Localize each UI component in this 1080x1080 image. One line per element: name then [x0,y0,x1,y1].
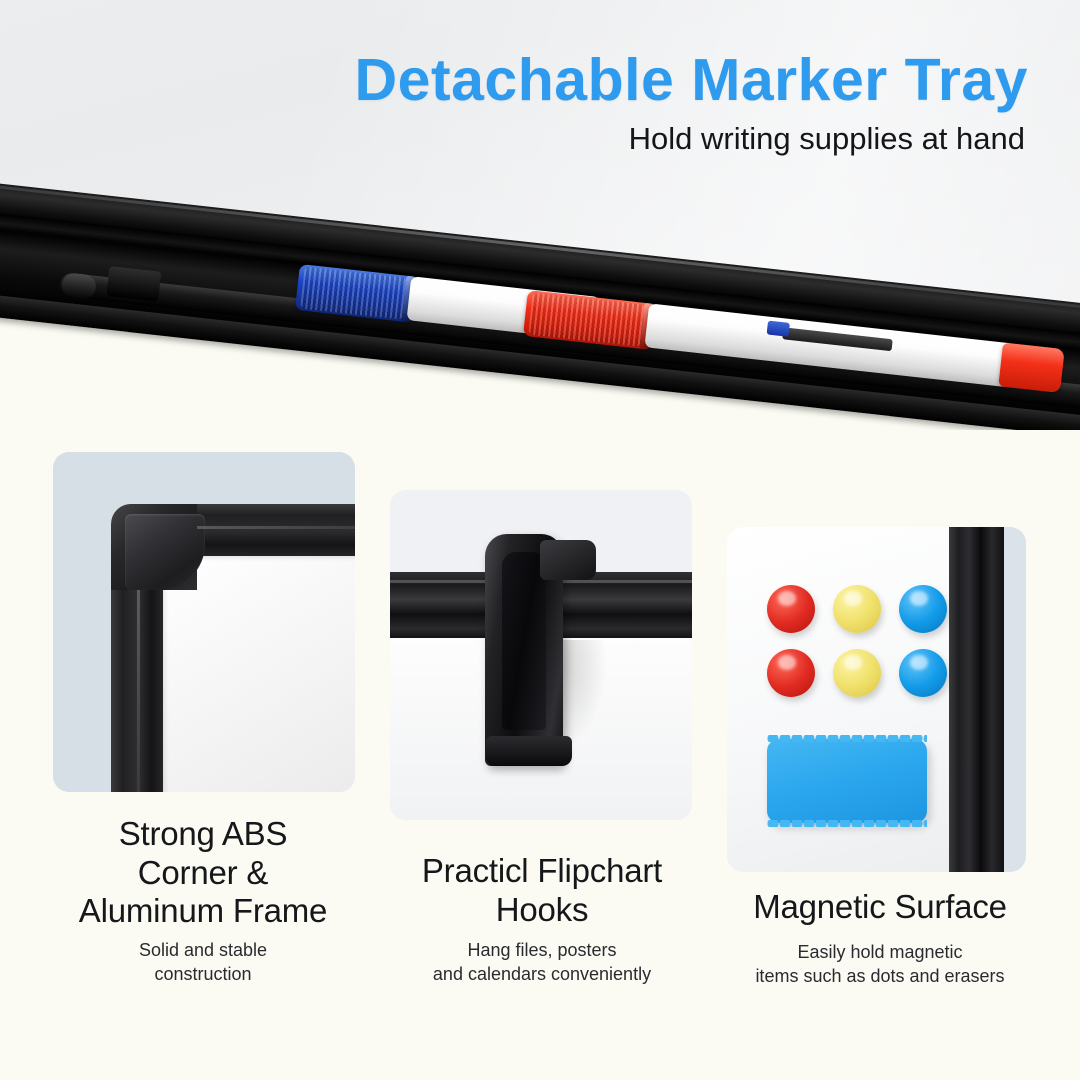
red-marker-end-cap [998,342,1064,393]
feature-title-flipchart-hooks: Practicl Flipchart Hooks [374,852,710,929]
flipchart-hook-foot [486,736,572,766]
magnetic-eraser [767,739,927,823]
marker-clip-nub [767,321,790,337]
feature-card-magnetic-surface [727,527,1026,872]
eraser-bottom-scallop [767,820,927,827]
page-subtitle: Hold writing supplies at hand [629,121,1025,157]
magnet-dot-yellow-2 [833,649,881,697]
flipchart-hook-channel [502,552,546,730]
corner-seam-horizontal [197,526,355,529]
flipchart-hook-tab [540,540,596,580]
blue-cap-ribs [300,267,407,320]
feature-title-abs-corner: Strong ABS Corner & Aluminum Frame [38,815,368,931]
feature-card-abs-corner [53,452,355,792]
feature-card-flipchart-hooks [390,490,692,820]
eraser-top-scallop [767,735,927,742]
magnetic-board-frame-rail [949,527,1004,872]
hero-section: Detachable Marker Tray Hold writing supp… [0,0,1080,430]
feature-description-abs-corner: Solid and stable construction [48,938,358,987]
magnet-dot-red-2 [767,649,815,697]
magnetic-surface-photo [727,527,1026,872]
tray-mount-clip [106,266,161,302]
magnet-dot-blue-1 [899,585,947,633]
product-feature-page: Detachable Marker Tray Hold writing supp… [0,0,1080,1080]
magnet-dot-yellow-1 [833,585,881,633]
page-title: Detachable Marker Tray [355,46,1028,114]
feature-description-magnetic-surface: Easily hold magnetic items such as dots … [700,940,1060,989]
magnetic-board-outer-edge [1004,527,1026,872]
feature-title-magnetic-surface: Magnetic Surface [700,888,1060,927]
flipchart-hook-photo [390,490,692,820]
corner-board-surface [163,556,355,792]
abs-corner-photo [111,504,355,792]
corner-seam-vertical [137,590,140,792]
magnet-dot-blue-2 [899,649,947,697]
magnet-dot-red-1 [767,585,815,633]
feature-description-flipchart-hooks: Hang files, posters and calendars conven… [370,938,714,987]
